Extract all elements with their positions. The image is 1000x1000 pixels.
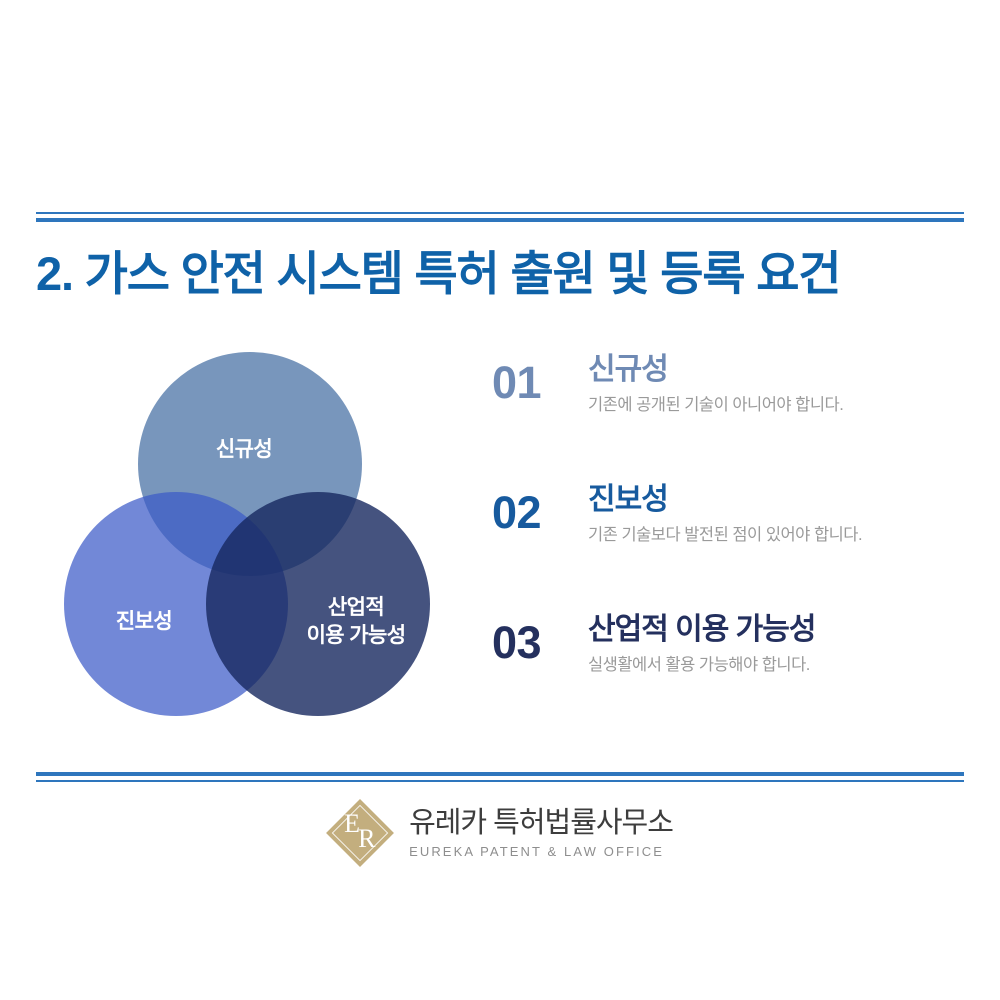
page-title: 2. 가스 안전 시스템 특허 출원 및 등록 요건 — [36, 246, 840, 301]
requirement-description-03: 실생활에서 활용 가능해야 합니다. — [588, 654, 964, 676]
venn-label-line-1: 산업적 — [328, 596, 384, 619]
venn-label-line-2: 이용 가능성 — [307, 624, 406, 647]
requirement-item-03: 03 산업적 이용 가능성 실생활에서 활용 가능해야 합니다. — [492, 612, 964, 710]
requirement-number-02: 02 — [492, 482, 588, 535]
venn-diagram: 신규성 진보성 산업적 이용 가능성 — [60, 352, 440, 720]
venn-label-novelty: 신규성 — [216, 436, 272, 464]
footer-logo-text: 유레카 특허법률사무소 EUREKA PATENT & LAW OFFICE — [409, 807, 673, 860]
firm-name-english: EUREKA PATENT & LAW OFFICE — [409, 844, 673, 860]
requirement-item-01: 01 신규성 기존에 공개된 기술이 아니어야 합니다. — [492, 352, 964, 450]
requirement-title-02: 진보성 — [588, 482, 964, 519]
requirement-body-03: 산업적 이용 가능성 실생활에서 활용 가능해야 합니다. — [588, 612, 964, 676]
requirement-title-01: 신규성 — [588, 352, 964, 389]
footer-branding: E R 유레카 특허법률사무소 EUREKA PATENT & LAW OFFI… — [0, 800, 1000, 866]
requirement-body-01: 신규성 기존에 공개된 기술이 아니어야 합니다. — [588, 352, 964, 416]
requirement-number-01: 01 — [492, 352, 588, 405]
requirement-description-02: 기존 기술보다 발전된 점이 있어야 합니다. — [588, 524, 964, 546]
requirements-list: 01 신규성 기존에 공개된 기술이 아니어야 합니다. 02 진보성 기존 기… — [492, 352, 964, 742]
eureka-diamond-logo-icon: E R — [327, 800, 393, 866]
requirement-item-02: 02 진보성 기존 기술보다 발전된 점이 있어야 합니다. — [492, 482, 964, 580]
venn-circle-industrial-applicability: 산업적 이용 가능성 — [206, 492, 430, 716]
venn-label-inventive-step: 진보성 — [116, 608, 172, 636]
requirement-title-03: 산업적 이용 가능성 — [588, 612, 964, 649]
venn-label-industrial-applicability: 산업적 이용 가능성 — [307, 594, 406, 649]
divider-top-thick-rule — [36, 218, 964, 222]
diamond-inner-border — [332, 805, 389, 862]
diamond-shape — [326, 799, 394, 867]
firm-name-korean: 유레카 특허법률사무소 — [409, 807, 673, 840]
requirement-body-02: 진보성 기존 기술보다 발전된 점이 있어야 합니다. — [588, 482, 964, 546]
divider-bottom — [36, 772, 964, 782]
slide-canvas: 2. 가스 안전 시스템 특허 출원 및 등록 요건 신규성 진보성 산업적 이… — [0, 0, 1000, 1000]
divider-bottom-thin-rule — [36, 780, 964, 782]
divider-top — [36, 212, 964, 222]
requirement-description-01: 기존에 공개된 기술이 아니어야 합니다. — [588, 394, 964, 416]
requirement-number-03: 03 — [492, 612, 588, 665]
